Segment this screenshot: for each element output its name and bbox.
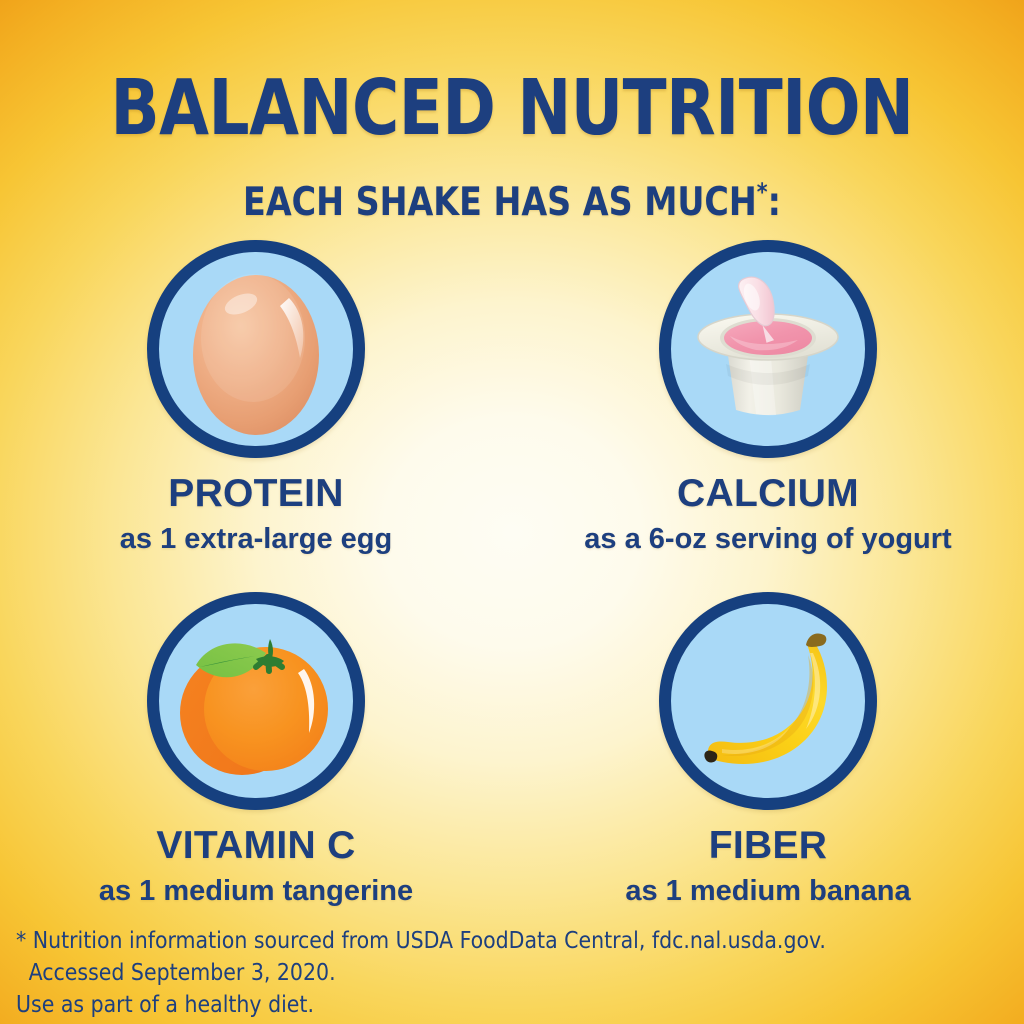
nutrient-label: CALCIUM: [677, 472, 859, 516]
fiber-badge: [659, 592, 877, 810]
footnote-line-2: Accessed September 3, 2020.: [16, 957, 928, 989]
calcium-badge: [659, 240, 877, 458]
nutrient-item-protein: PROTEIN as 1 extra-large egg: [0, 240, 512, 556]
nutrient-detail: as 1 extra-large egg: [120, 523, 392, 556]
subtitle-text: EACH SHAKE HAS AS MUCH: [243, 180, 757, 225]
nutrient-detail: as 1 medium banana: [625, 875, 910, 908]
footnote-line-3: Use as part of a healthy diet.: [16, 989, 928, 1021]
yogurt-cup-icon: [686, 264, 850, 434]
footnote-marker: *: [757, 178, 768, 206]
protein-badge: [147, 240, 365, 458]
subtitle-colon: :: [768, 180, 781, 225]
tangerine-icon: [170, 617, 342, 785]
nutrient-label: PROTEIN: [168, 472, 343, 516]
footnote-line-1: * Nutrition information sourced from USD…: [16, 925, 928, 957]
nutrition-infographic: BALANCED NUTRITION EACH SHAKE HAS AS MUC…: [0, 0, 1024, 1024]
vitamin-c-badge: [147, 592, 365, 810]
page-title: BALANCED NUTRITION: [36, 64, 988, 153]
nutrient-item-fiber: FIBER as 1 medium banana: [512, 592, 1024, 908]
banana-icon: [682, 615, 854, 787]
nutrient-label: VITAMIN C: [156, 824, 355, 868]
egg-icon: [181, 260, 331, 438]
nutrient-item-calcium: CALCIUM as a 6-oz serving of yogurt: [512, 240, 1024, 556]
nutrient-row-bottom: VITAMIN C as 1 medium tangerine: [0, 592, 1024, 908]
nutrient-item-vitamin-c: VITAMIN C as 1 medium tangerine: [0, 592, 512, 908]
nutrient-detail: as 1 medium tangerine: [99, 875, 413, 908]
nutrient-label: FIBER: [709, 824, 828, 868]
page-subtitle: EACH SHAKE HAS AS MUCH*:: [26, 178, 999, 225]
nutrient-row-top: PROTEIN as 1 extra-large egg: [0, 240, 1024, 556]
nutrient-grid: PROTEIN as 1 extra-large egg: [0, 240, 1024, 908]
footnote: * Nutrition information sourced from USD…: [16, 925, 928, 1021]
nutrient-detail: as a 6-oz serving of yogurt: [584, 523, 951, 556]
